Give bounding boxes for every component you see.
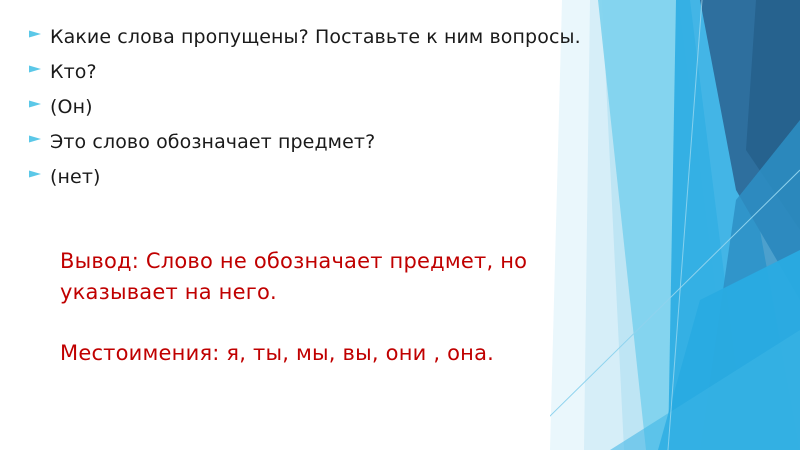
deco-shape-cyan (668, 0, 800, 450)
triangle-right-icon (28, 168, 50, 180)
triangle-right-icon (28, 28, 50, 40)
triangle-right-icon (28, 133, 50, 145)
deco-shape-deep (746, 0, 800, 230)
list-item-label: Это слово обозначает предмет? (50, 131, 375, 153)
list-item: Это слово обозначает предмет? (28, 131, 648, 166)
conclusion-line-2: указывает на него. (60, 277, 660, 308)
bullet-list: Какие слова пропущены? Поставьте к ним в… (28, 26, 648, 201)
list-item-label: (нет) (50, 166, 101, 188)
conclusion-text-block: Вывод: Слово не обозначает предмет, но у… (60, 246, 660, 369)
triangle-right-icon (28, 98, 50, 110)
presentation-slide: Какие слова пропущены? Поставьте к ним в… (0, 0, 800, 450)
list-item-label: Кто? (50, 61, 97, 83)
list-item: Какие слова пропущены? Поставьте к ним в… (28, 26, 648, 61)
pronouns-line: Местоимения: я, ты, мы, вы, они , она. (60, 338, 660, 369)
deco-shape-medium (700, 120, 800, 450)
conclusion-line-1: Вывод: Слово не обозначает предмет, но (60, 246, 660, 277)
deco-shape-cyan-bottom (658, 250, 800, 450)
list-item: (нет) (28, 166, 648, 201)
list-item-label: (Он) (50, 96, 93, 118)
list-item-label: Какие слова пропущены? Поставьте к ним в… (50, 26, 581, 48)
list-item: Кто? (28, 61, 648, 96)
triangle-right-icon (28, 63, 50, 75)
conclusion-spacer (60, 308, 660, 338)
list-item: (Он) (28, 96, 648, 131)
deco-shape-dark (700, 0, 800, 300)
deco-hairline-2 (668, 0, 702, 450)
